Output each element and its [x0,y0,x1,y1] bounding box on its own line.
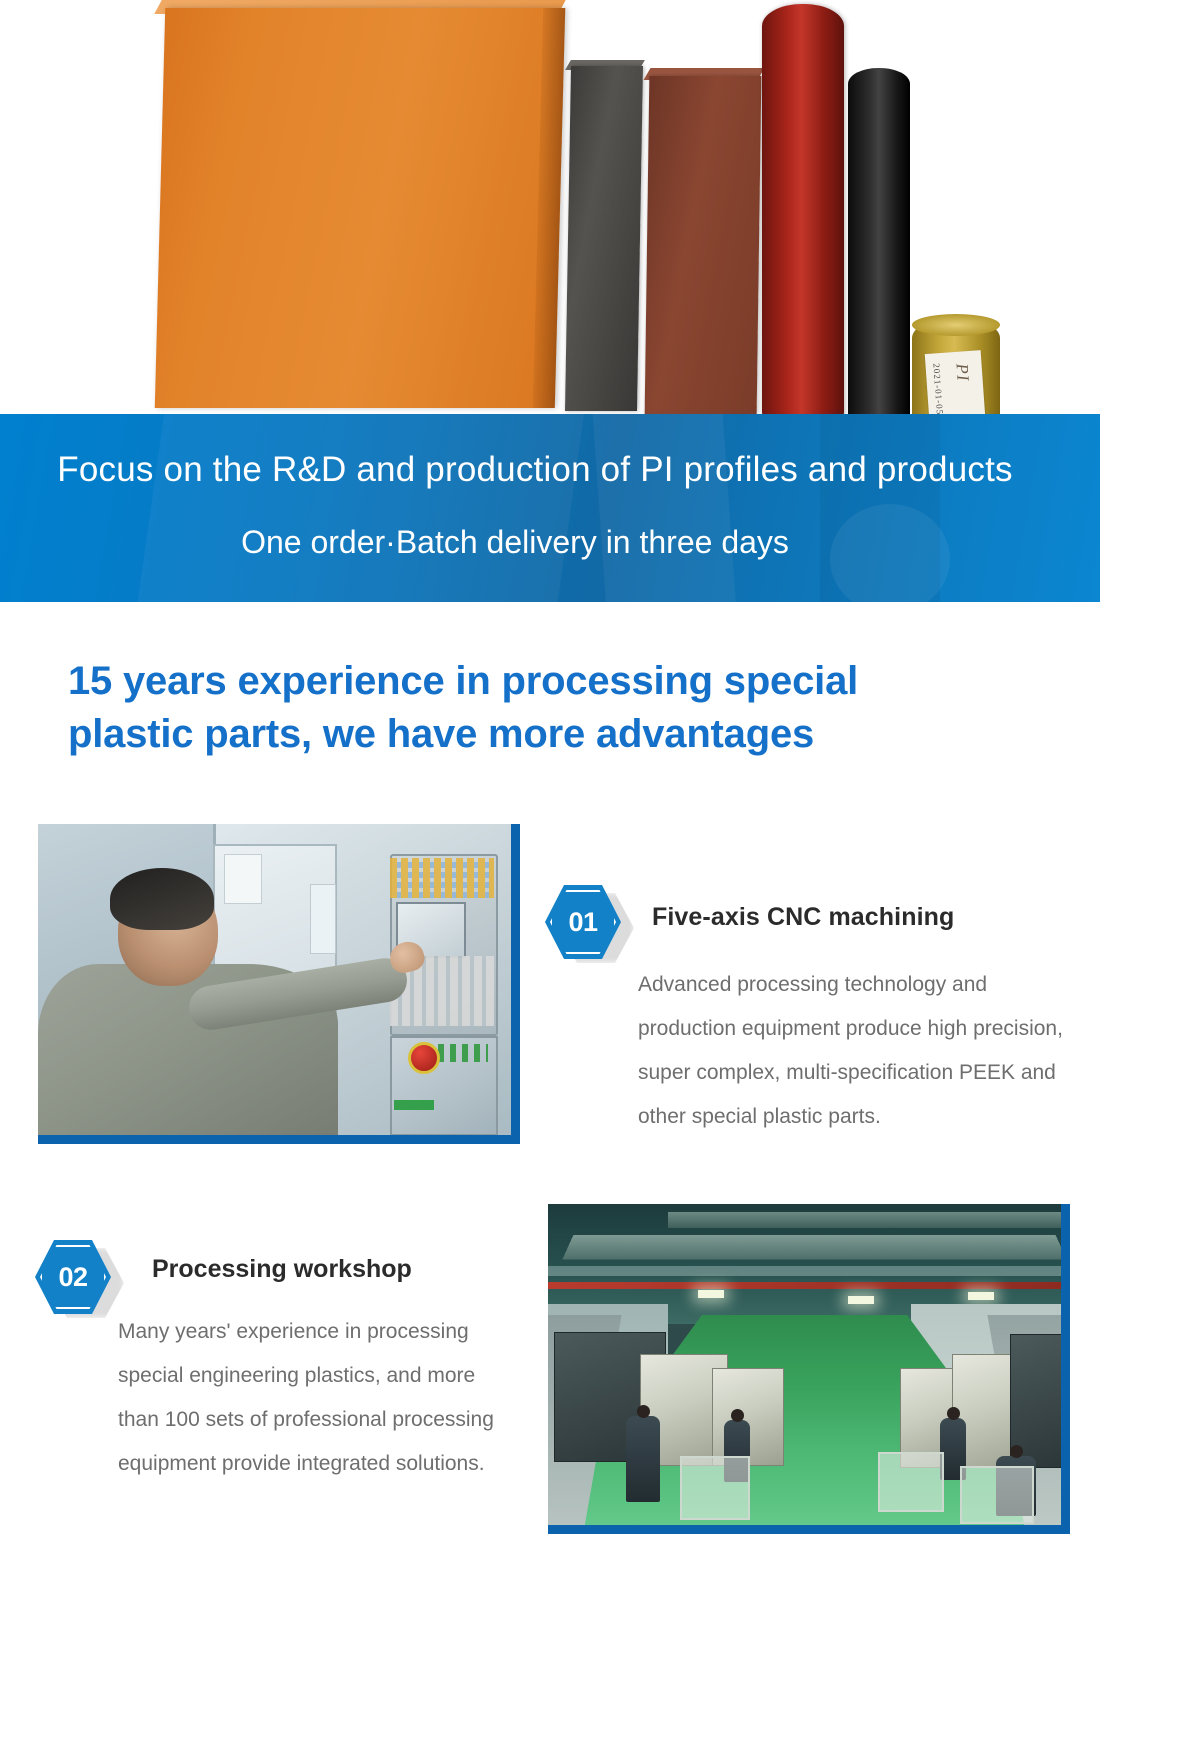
cnc-door-sticker-label [310,884,336,954]
feature-01-number: 01 [545,885,621,959]
feature-02-image [548,1204,1070,1534]
orange-phenolic-sheet [155,8,565,408]
black-rod [848,68,910,448]
hero-tagline-banner: Focus on the R&D and production of PI pr… [0,414,1100,602]
banner-subheadline: One order·Batch delivery in three days [0,524,1030,561]
workshop-cart [680,1456,750,1520]
feature-02-number: 02 [35,1240,111,1314]
cnc-green-indicator [394,1100,434,1110]
workshop-cart [960,1466,1034,1524]
feature-02-number-badge: 02 [35,1240,111,1314]
section-heading-line1: 15 years experience in processing specia… [68,655,1068,708]
banner-headline: Focus on the R&D and production of PI pr… [0,450,1070,490]
workshop-lamp [968,1292,994,1300]
workshop-ceiling-beam [548,1266,1061,1276]
cnc-door-sticker-white [224,854,262,904]
feature-01-image [38,824,520,1144]
cnc-emergency-stop-button [408,1042,440,1074]
cnc-operator-hair [110,868,214,930]
grey-bar [565,66,643,411]
feature-02-body: Many years' experience in processing spe… [118,1310,518,1486]
workshop-air-duct-secondary [668,1212,1061,1228]
section-heading: 15 years experience in processing specia… [68,655,1068,761]
feature-01-number-badge: 01 [545,885,621,959]
workshop-lamp [848,1296,874,1304]
feature-01-body: Advanced processing technology and produ… [638,963,1068,1139]
brown-bar [645,76,762,414]
workshop-red-pipe [548,1282,1061,1289]
cnc-keypad-upper [390,858,494,898]
rod-label-scribble: PI [951,363,972,382]
product-photo-image: 2021-01-05 PI [150,0,1200,470]
workshop-lamp [698,1290,724,1298]
section-heading-line2: plastic parts, we have more advantages [68,708,1068,761]
feature-02-title: Processing workshop [152,1255,412,1284]
banner-decor-shape-a [130,414,589,602]
rod-label-code: 2021-01-05 [931,363,945,416]
feature-01-title: Five-axis CNC machining [652,903,954,932]
workshop-air-duct [562,1235,1066,1259]
yellow-rod-cap [912,314,1000,336]
banner-decor-shape-b [588,414,741,602]
workshop-cart [878,1452,944,1512]
red-rod [762,4,844,434]
cnc-indicator-lights [438,1044,488,1062]
workshop-worker [626,1416,660,1502]
